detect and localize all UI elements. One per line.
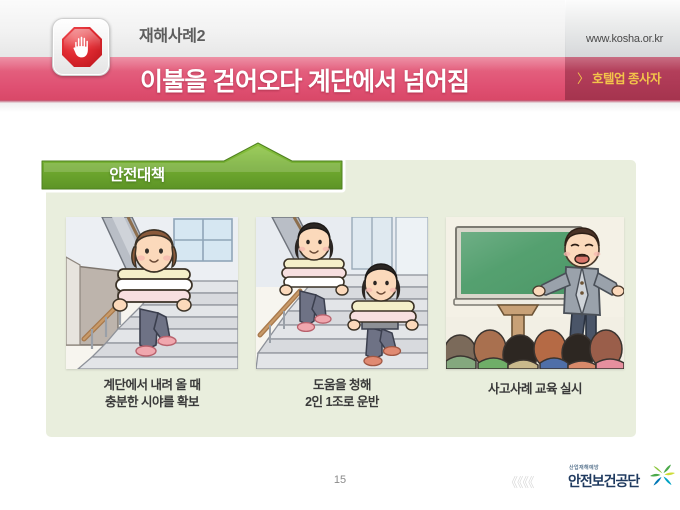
caption-line: 사고사례 교육 실시 — [446, 381, 624, 398]
caption-stairs-visibility: 계단에서 내려 올 때 충분한 시야를 확보 — [66, 377, 238, 411]
illustration-card-safety-training — [446, 217, 624, 369]
stop-hand-icon — [52, 18, 110, 76]
header-top-right-panel — [565, 0, 680, 57]
caption-two-person-carry: 도움을 청해 2인 1조로 운반 — [256, 377, 428, 411]
header-bottom-fade — [0, 103, 680, 112]
caption-line: 도움을 청해 — [256, 377, 428, 394]
hand-glyph — [71, 35, 93, 59]
audience-tag: 〉호텔업 종사자 — [577, 68, 661, 87]
audience-tag-label: 호텔업 종사자 — [592, 72, 661, 86]
chevron-right-icon: 〉 — [577, 72, 589, 86]
instructor-teaching-accident-cases — [446, 217, 624, 369]
site-url: www.kosha.or.kr — [586, 33, 663, 45]
chevron-decoration-icon: 《《《《 — [505, 472, 534, 491]
logo-supertext: 산업재해예방 — [569, 464, 599, 471]
caption-safety-training: 사고사례 교육 실시 — [446, 381, 624, 398]
section-banner: 안전대책 — [36, 139, 348, 194]
page-header: 재해사례2 이불을 걷어오다 계단에서 넘어짐 www.kosha.or.kr … — [0, 0, 680, 112]
section-title: 안전대책 — [36, 163, 348, 185]
two-workers-carrying-blankets-together — [256, 217, 428, 369]
caption-line: 계단에서 내려 올 때 — [66, 377, 238, 394]
subject-label: 재해사례2 — [139, 22, 205, 46]
woman-carrying-blankets-down-stairs — [66, 217, 238, 369]
caption-line: 2인 1조로 운반 — [256, 394, 428, 411]
kosha-logo: 《《《《 산업재해예방 안전보건공단 — [505, 462, 675, 498]
illustration-card-stairs-visibility — [66, 217, 238, 369]
page-title: 이불을 걷어오다 계단에서 넘어짐 — [140, 62, 469, 98]
caption-line: 충분한 시야를 확보 — [66, 394, 238, 411]
kosha-pinwheel-logo-icon — [650, 462, 676, 488]
logo-name: 안전보건공단 — [568, 471, 639, 491]
illustration-card-two-person-carry — [256, 217, 428, 369]
header-top-right-divider — [565, 0, 566, 57]
